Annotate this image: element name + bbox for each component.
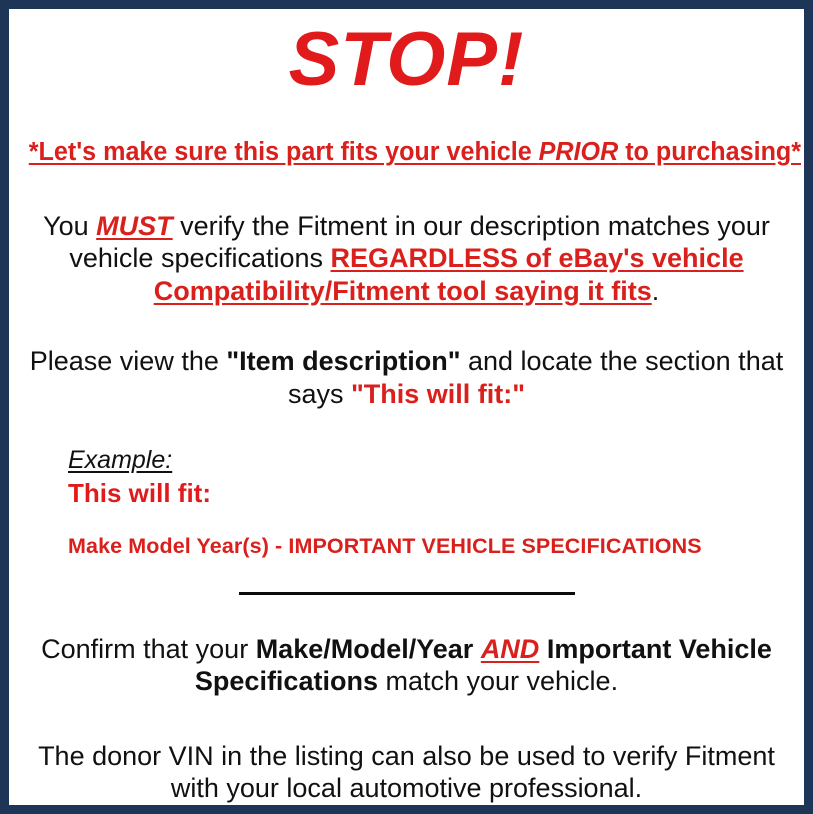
confirm-paragraph: Confirm that your Make/Model/Year AND Im… [23, 633, 790, 698]
example-fit-header: This will fit: [68, 478, 790, 509]
divider-row [23, 585, 790, 603]
confirm-paragraph-seg2: match your vehicle. [378, 666, 618, 696]
tagline-emphasis: PRIOR [539, 138, 619, 166]
notice-content: STOP! *Let's make sure this part fits yo… [9, 9, 804, 805]
and-keyword: AND [481, 634, 540, 664]
page-title: STOP! [23, 22, 790, 98]
fitment-notice-card: STOP! *Let's make sure this part fits yo… [0, 0, 813, 814]
make-model-year-label: Make/Model/Year [256, 634, 474, 664]
view-paragraph-seg1: Please view the [30, 346, 227, 376]
must-paragraph: You MUST verify the Fitment in our descr… [23, 210, 790, 307]
example-label-row: Example: [68, 446, 790, 475]
item-description-label: "Item description" [226, 346, 460, 376]
this-will-fit-quote: "This will fit:" [351, 379, 525, 409]
vin-paragraph: The donor VIN in the listing can also be… [23, 740, 790, 805]
section-divider [239, 592, 575, 595]
confirm-paragraph-seg1: Confirm that your [41, 634, 256, 664]
must-paragraph-seg3: . [652, 276, 660, 306]
example-block: Example: This will fit: Make Model Year(… [23, 446, 790, 560]
tagline-lead: *Let's make sure this part fits your veh… [29, 138, 539, 166]
tagline: *Let's make sure this part fits your veh… [29, 138, 784, 166]
must-keyword: MUST [96, 211, 173, 241]
example-spec-line: Make Model Year(s) - IMPORTANT VEHICLE S… [68, 534, 790, 560]
must-paragraph-seg1: You [43, 211, 96, 241]
tagline-tail: to purchasing* [618, 138, 801, 166]
view-description-paragraph: Please view the "Item description" and l… [23, 345, 790, 410]
example-label: Example: [68, 446, 172, 475]
